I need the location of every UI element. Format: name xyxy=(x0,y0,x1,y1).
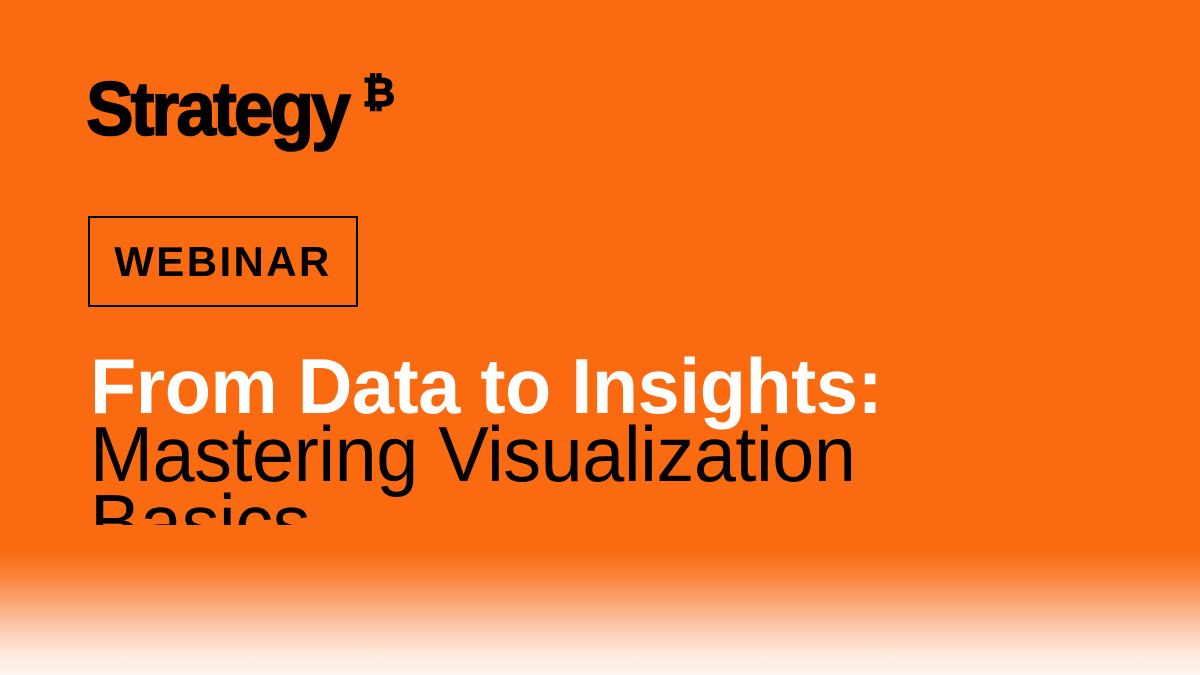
webinar-badge-label: WEBINAR xyxy=(114,241,331,283)
title-line-3: Basics xyxy=(90,488,1079,556)
logo-wordmark: Strategy xyxy=(86,72,348,148)
webinar-badge: WEBINAR xyxy=(88,216,358,307)
webinar-title-slide: Strategy ₿ WEBINAR From Data to Insights… xyxy=(0,0,1200,675)
page-title: From Data to Insights: Mastering Visuali… xyxy=(90,352,1110,556)
bitcoin-icon: ₿ xyxy=(363,73,396,113)
strategy-logo: Strategy ₿ xyxy=(86,72,395,148)
